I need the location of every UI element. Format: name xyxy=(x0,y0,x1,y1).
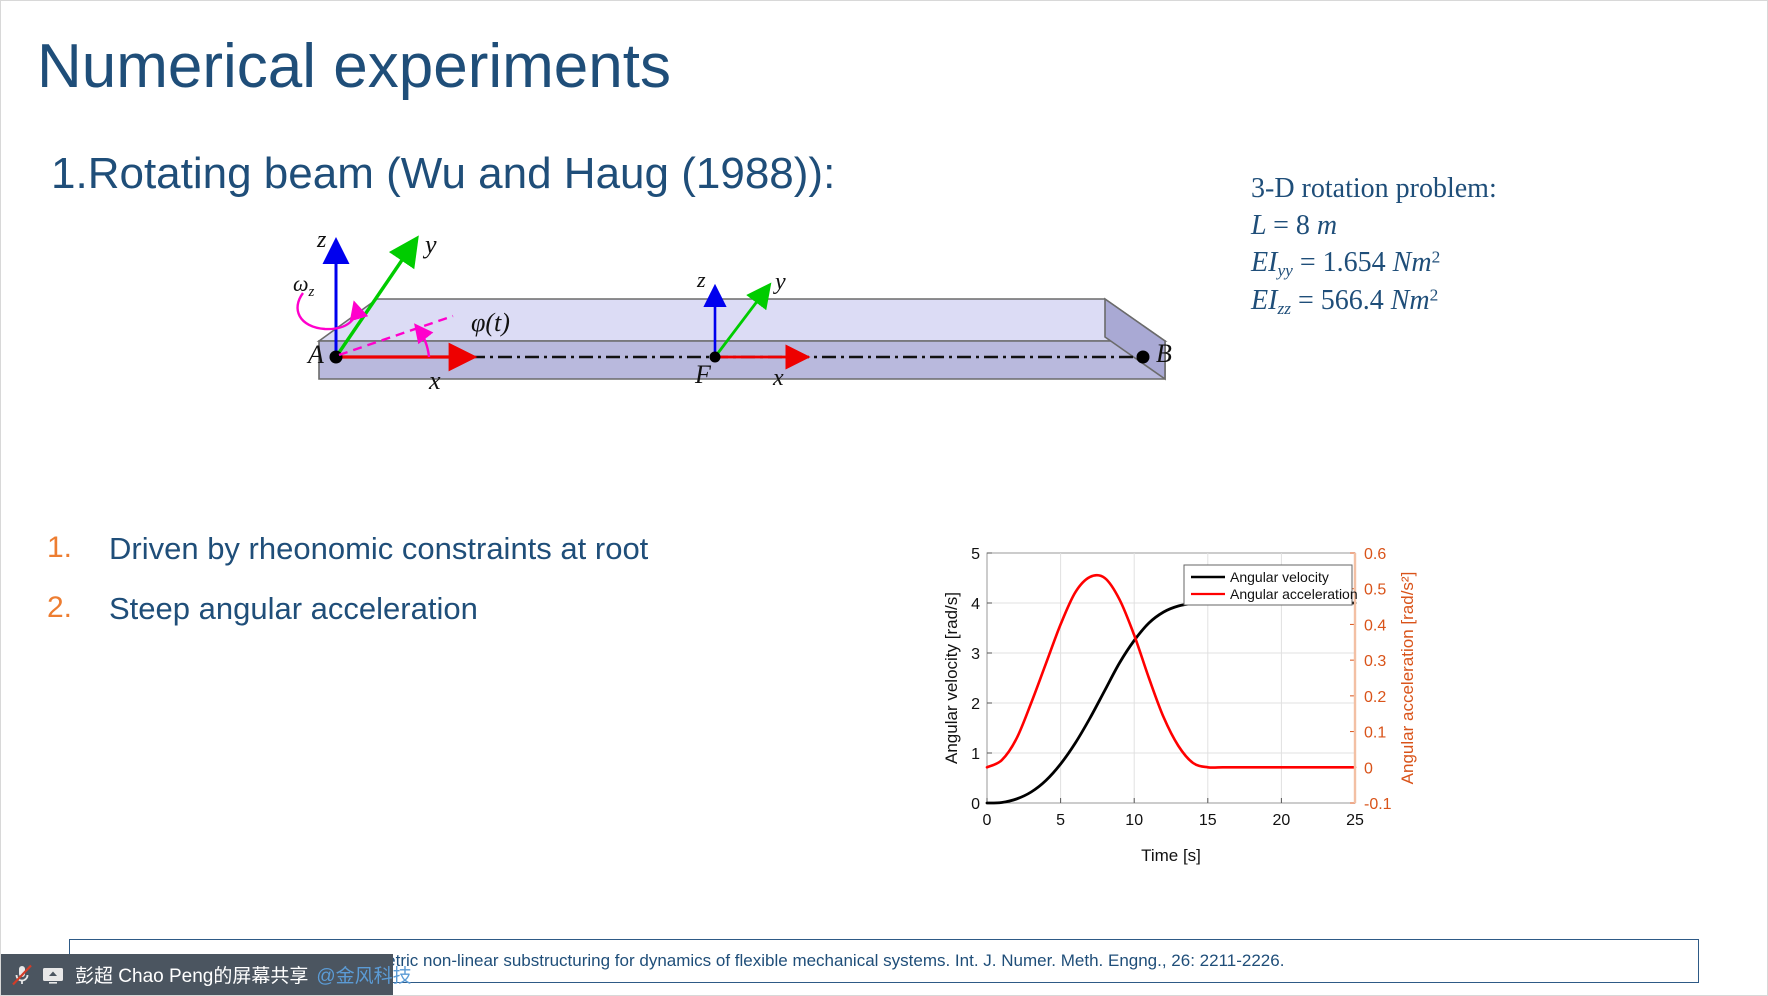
param-EIzz-symbol: EI xyxy=(1251,285,1277,316)
parameter-length: L = 8 m xyxy=(1251,208,1497,245)
screen-share-bar: 彭超 Chao Peng的屏幕共享 @金风科技 xyxy=(1,954,393,995)
param-EIyy-eq: = xyxy=(1300,247,1316,278)
label-phi-t: φ(t) xyxy=(471,308,510,337)
beam-body xyxy=(319,299,1165,379)
slide-canvas: Numerical experiments 1.Rotating beam (W… xyxy=(0,0,1768,996)
bullet-list: 1. Driven by rheonomic constraints at ro… xyxy=(47,531,807,651)
label-axis-y-root: y xyxy=(422,231,437,259)
x-axis-label: Time [s] xyxy=(1141,846,1201,865)
y-tick-label: 0 xyxy=(971,796,980,813)
parameter-eiyy: EIyy = 1.654 Nm2 xyxy=(1251,245,1497,283)
y2-tick-label: 0.3 xyxy=(1364,653,1386,670)
screen-share-icon[interactable] xyxy=(40,962,66,988)
legend-label-velocity: Angular velocity xyxy=(1230,569,1329,585)
bullet-number: 1. xyxy=(47,531,109,565)
param-EIzz-value: 566.4 xyxy=(1321,285,1384,316)
param-EIyy-sub: yy xyxy=(1277,261,1292,280)
y-tick-label: 4 xyxy=(971,596,980,613)
param-EIyy-value: 1.654 xyxy=(1323,247,1386,278)
y-tick-label: 2 xyxy=(971,696,980,713)
param-L-symbol: L xyxy=(1251,210,1266,241)
label-axis-z-root: z xyxy=(316,231,327,253)
param-L-value: 8 xyxy=(1296,210,1310,241)
chart-legend: Angular velocity Angular acceleration xyxy=(1184,565,1358,605)
angular-motion-chart: 012345 -0.100.10.20.30.40.50.6 051015202… xyxy=(939,543,1429,873)
parameters-heading: 3-D rotation problem: xyxy=(1251,171,1497,208)
label-axis-z-mid: z xyxy=(696,267,706,292)
label-point-b: B xyxy=(1156,339,1172,368)
y-tick-label: 1 xyxy=(971,746,980,763)
x-tick-label: 5 xyxy=(1056,812,1065,829)
x-tick-label: 15 xyxy=(1199,812,1217,829)
label-axis-x-root: x xyxy=(428,366,441,395)
y2-tick-label: -0.1 xyxy=(1364,796,1392,813)
param-L-eq: = xyxy=(1273,210,1289,241)
x-tick-label: 0 xyxy=(983,812,992,829)
param-EIyy-unit: Nm xyxy=(1393,247,1432,278)
share-owner-label: 彭超 Chao Peng的屏幕共享 xyxy=(75,961,308,988)
param-EIyy-symbol: EI xyxy=(1251,247,1277,278)
legend-label-acceleration: Angular acceleration xyxy=(1230,586,1358,602)
y2-tick-label: 0.6 xyxy=(1364,546,1386,563)
microphone-muted-icon[interactable] xyxy=(9,962,35,988)
rotating-beam-diagram: A B F z y x z y x ωz φ(t) xyxy=(281,231,1201,441)
parameter-eizz: EIzz = 566.4 Nm2 xyxy=(1251,283,1497,321)
y2-tick-label: 0.4 xyxy=(1364,617,1386,634)
point-f-marker xyxy=(710,352,721,363)
label-point-a: A xyxy=(306,340,324,369)
y2-tick-label: 0.2 xyxy=(1364,689,1386,706)
y-tick-label: 5 xyxy=(971,546,980,563)
y-tick-label: 3 xyxy=(971,646,980,663)
label-axis-y-mid: y xyxy=(773,269,786,295)
bullet-label: Steep angular acceleration xyxy=(109,591,478,627)
list-item: 2. Steep angular acceleration xyxy=(47,591,807,627)
list-item: 1. Driven by rheonomic constraints at ro… xyxy=(47,531,807,567)
problem-parameters: 3-D rotation problem: L = 8 m EIyy = 1.6… xyxy=(1251,171,1497,321)
param-EIzz-sub: zz xyxy=(1277,299,1291,318)
share-tag-label: @金风科技 xyxy=(316,961,411,988)
y2-tick-label: 0.1 xyxy=(1364,725,1386,742)
param-EIzz-eq: = xyxy=(1298,285,1314,316)
label-omega-z: ωz xyxy=(293,271,315,300)
label-axis-x-mid: x xyxy=(772,365,784,391)
param-L-unit: m xyxy=(1317,210,1337,241)
omega-z-arrow xyxy=(298,293,356,329)
label-point-f: F xyxy=(694,360,712,389)
param-EIzz-unit: Nm xyxy=(1391,285,1430,316)
bullet-number: 2. xyxy=(47,591,109,625)
slide-subtitle: 1.Rotating beam (Wu and Haug (1988)): xyxy=(51,149,835,199)
y2-tick-label: 0.5 xyxy=(1364,582,1386,599)
point-a-marker xyxy=(330,351,343,364)
x-tick-label: 25 xyxy=(1346,812,1364,829)
y2-axis-label: Angular acceleration [rad/s²] xyxy=(1398,572,1417,785)
y-axis-label: Angular velocity [rad/s] xyxy=(942,592,961,764)
page-title: Numerical experiments xyxy=(37,31,671,102)
param-EIyy-sup: 2 xyxy=(1432,247,1441,266)
x-tick-label: 10 xyxy=(1125,812,1143,829)
y2-tick-label: 0 xyxy=(1364,760,1373,777)
bullet-label: Driven by rheonomic constraints at root xyxy=(109,531,648,567)
point-b-marker xyxy=(1137,351,1150,364)
x-tick-label: 20 xyxy=(1273,812,1291,829)
param-EIzz-sup: 2 xyxy=(1430,285,1439,304)
